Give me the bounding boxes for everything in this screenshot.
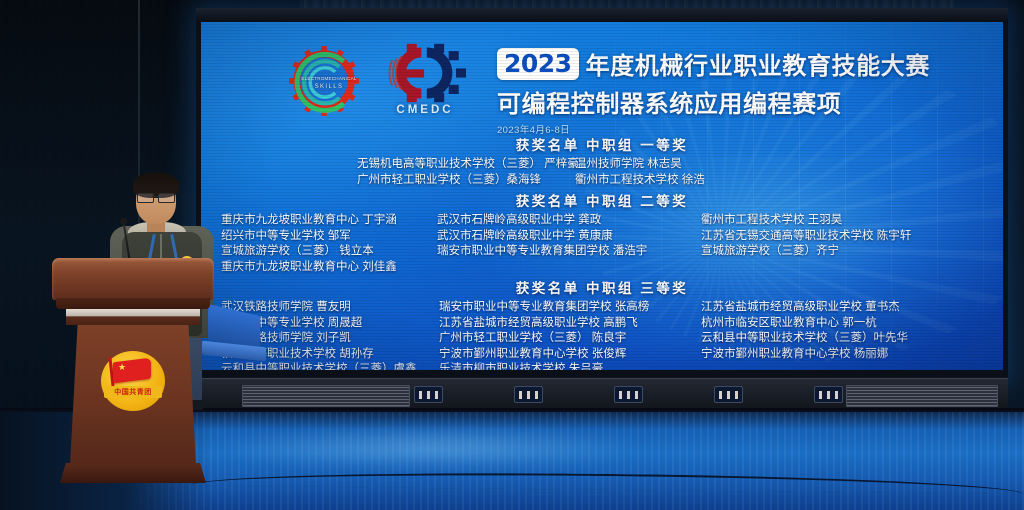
- communist-youth-league-emblem: ★ 中国共青团: [96, 348, 170, 414]
- led-screen: ELECTROMECHANICAL SKILLS: [201, 22, 1003, 370]
- glasses-icon: [137, 193, 175, 201]
- laptop-device: [202, 310, 266, 364]
- vent-grille: [242, 385, 410, 407]
- podium: ★ 中国共青团: [52, 258, 214, 488]
- stage-photo-scene: ELECTROMECHANICAL SKILLS: [0, 0, 1024, 510]
- screen-bezel: [196, 8, 1008, 22]
- socket-panel: [414, 386, 443, 403]
- emblem-text: 中国共青团: [104, 386, 162, 398]
- socket-panel: [814, 386, 843, 403]
- podium-top-surface: [52, 258, 214, 300]
- podium-base: [60, 463, 206, 483]
- microphone-icon: [120, 218, 127, 225]
- socket-panel: [714, 386, 743, 403]
- podium-band: [66, 309, 200, 325]
- led-screen-frame: ELECTROMECHANICAL SKILLS: [196, 8, 1008, 380]
- star-icon: ★: [118, 363, 126, 372]
- socket-panel: [514, 386, 543, 403]
- vent-grille: [846, 385, 998, 407]
- screen-vignette: [201, 22, 1003, 370]
- socket-panel: [614, 386, 643, 403]
- podium-lip: [56, 298, 210, 309]
